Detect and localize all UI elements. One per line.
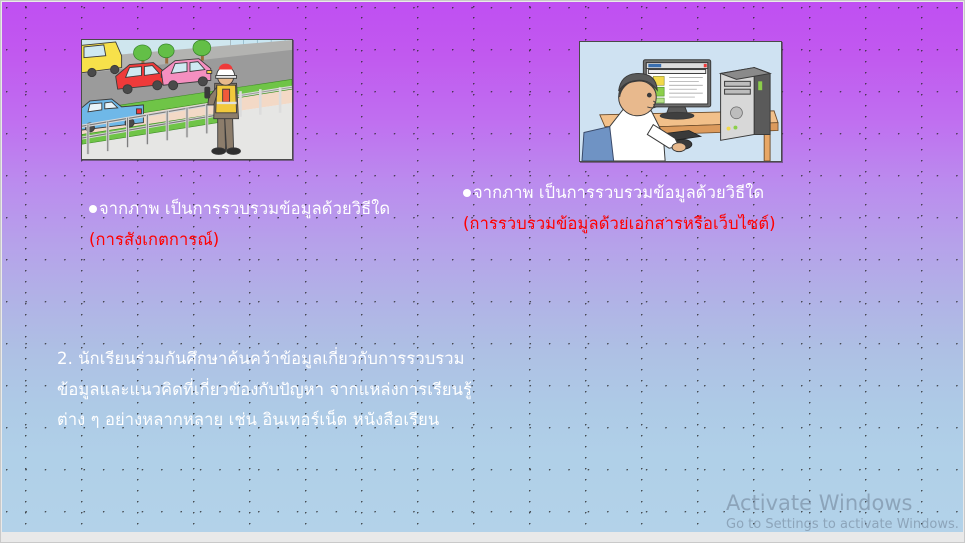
bullet-icon: [463, 189, 471, 197]
right-answer-text: (การรวบรวมข้อมูลด้วยเอกสารหรือเว็บไซต์): [463, 212, 813, 237]
left-question-block: จากภาพ เป็นการรวบรวมข้อมูลด้วยวิธีใด (กา…: [89, 197, 459, 253]
activity-paragraph: 2. นักเรียนร่วมกันศึกษาค้นคว้าข้อมูลเกี่…: [57, 344, 577, 436]
bullet-icon: [89, 205, 97, 213]
left-bullet-line: จากภาพ เป็นการรวบรวมข้อมูลด้วยวิธีใด: [89, 197, 459, 222]
computer-research-photo[interactable]: [579, 41, 782, 162]
right-bullet-line: จากภาพ เป็นการรวบรวมข้อมูลด้วยวิธีใด: [463, 181, 813, 206]
right-question-block: จากภาพ เป็นการรวบรวมข้อมูลด้วยวิธีใด (กา…: [463, 181, 813, 237]
traffic-scene-illustration: [82, 40, 292, 159]
paragraph-line-2: ข้อมูลและแนวคิดที่เกี่ยวข้องกับปัญหา จาก…: [57, 375, 577, 406]
left-answer-text: (การสังเกตการณ์): [89, 228, 459, 253]
slide-canvas: จากภาพ เป็นการรวบรวมข้อมูลด้วยวิธีใด (กา…: [0, 0, 965, 543]
paragraph-line-3: ต่าง ๆ อย่างหลากหลาย เช่น อินเทอร์เน็ต ห…: [57, 405, 577, 436]
paragraph-line-1: 2. นักเรียนร่วมกันศึกษาค้นคว้าข้อมูลเกี่…: [57, 344, 577, 375]
traffic-observation-photo[interactable]: [81, 39, 293, 160]
computer-scene-illustration: [580, 42, 781, 161]
right-bullet-text: จากภาพ เป็นการรวบรวมข้อมูลด้วยวิธีใด: [473, 183, 764, 202]
left-bullet-text: จากภาพ เป็นการรวบรวมข้อมูลด้วยวิธีใด: [99, 199, 390, 218]
